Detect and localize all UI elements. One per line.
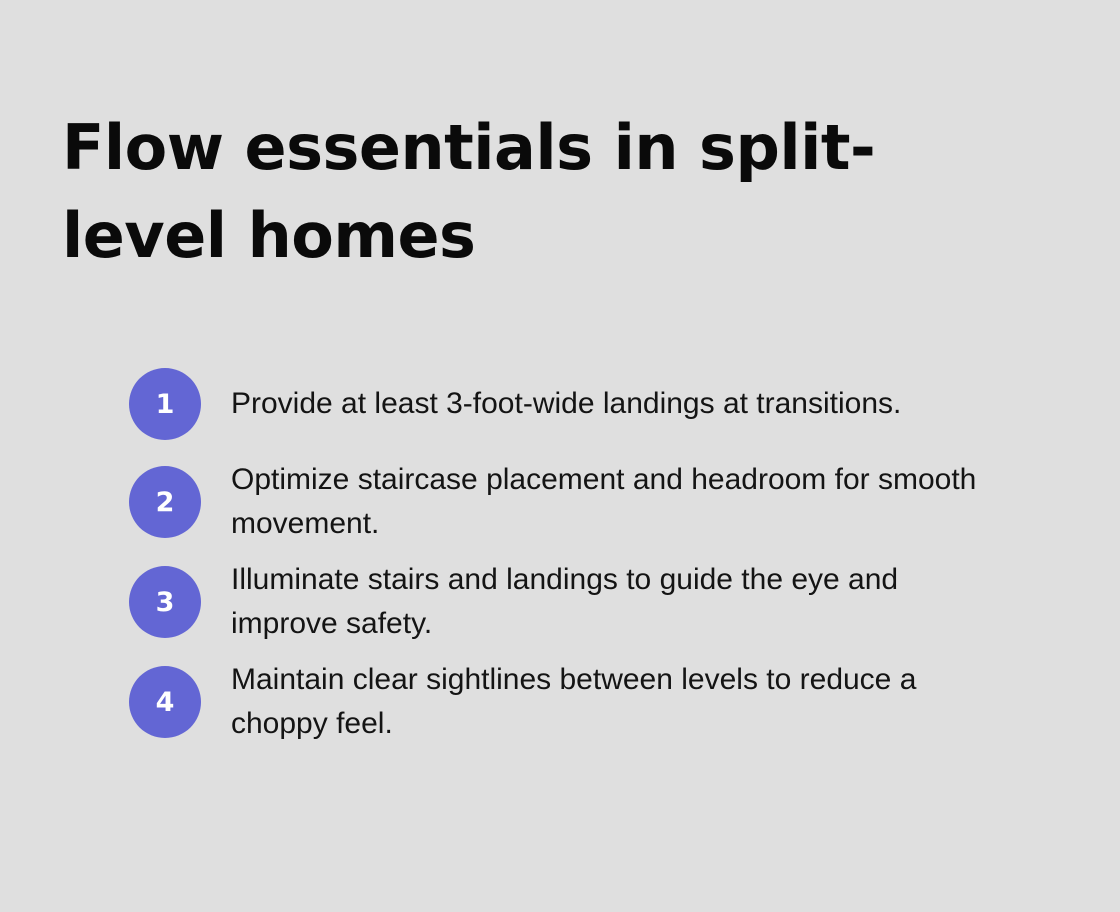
numbered-list: 1 Provide at least 3-foot-wide landings … <box>129 362 1049 746</box>
number-badge: 4 <box>129 666 201 738</box>
list-item: 1 Provide at least 3-foot-wide landings … <box>129 362 1049 446</box>
list-item-text: Optimize staircase placement and headroo… <box>231 458 1006 546</box>
list-item: 3 Illuminate stairs and landings to guid… <box>129 558 1049 646</box>
number-badge: 1 <box>129 368 201 440</box>
list-item: 2 Optimize staircase placement and headr… <box>129 458 1049 546</box>
page-title: Flow essentials in split-level homes <box>62 104 992 280</box>
number-badge: 3 <box>129 566 201 638</box>
list-item: 4 Maintain clear sightlines between leve… <box>129 658 1049 746</box>
list-item-text: Provide at least 3-foot-wide landings at… <box>231 382 1006 426</box>
number-badge: 2 <box>129 466 201 538</box>
list-item-text: Illuminate stairs and landings to guide … <box>231 558 1006 646</box>
slide-canvas: Flow essentials in split-level homes 1 P… <box>0 0 1120 912</box>
list-item-text: Maintain clear sightlines between levels… <box>231 658 1006 746</box>
